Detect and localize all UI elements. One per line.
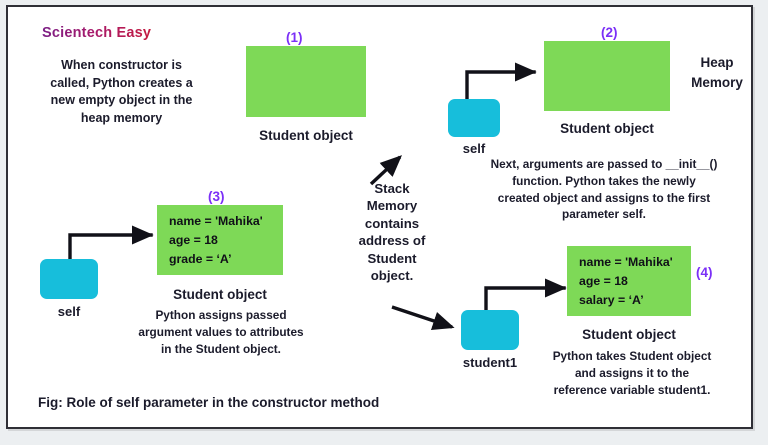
step-number-4: (4) [696,265,713,280]
student1-label: student1 [454,355,526,371]
student-object-label-3: Student object [148,287,292,303]
step2-note: Next, arguments are passed to __init__()… [454,156,754,223]
diagram-screenshot: Scientech Easy (1) Student object When c… [0,0,768,445]
student-object-label-4: Student object [559,327,699,343]
student-object-box-3: name = 'Mahika' age = 18 grade = ‘A’ [157,205,283,275]
arrow-self-to-student-object-3 [70,235,151,260]
self-label-bottom: self [36,304,102,320]
heap-memory-label: Heap Memory [680,53,754,92]
diagram-canvas: Scientech Easy (1) Student object When c… [6,5,753,429]
student-object-label-1: Student object [246,128,366,144]
brand-title: Scientech Easy [42,25,151,41]
step-number-3: (3) [208,189,225,204]
step-number-2: (2) [601,25,618,40]
student1-reference-box [461,310,519,350]
stack-memory-note: Stack Memory contains address of Student… [342,180,442,285]
student-object-box-3-contents: name = 'Mahika' age = 18 grade = ‘A’ [169,212,263,269]
student-object-box-4: name = 'Mahika' age = 18 salary = ‘A’ [567,246,691,316]
self-reference-box-top [448,99,500,137]
student-object-label-2: Student object [544,121,670,137]
step1-note: When constructor is called, Python creat… [24,57,219,127]
figure-caption: Fig: Role of self parameter in the const… [38,395,508,411]
student-object-box-1 [246,46,366,117]
step3-note: Python assigns passed argument values to… [104,307,338,357]
student-object-box-2 [544,41,670,111]
student-object-box-4-contents: name = 'Mahika' age = 18 salary = ‘A’ [579,253,673,310]
arrow-student1-to-student-object-4 [486,288,564,311]
arrow-stack-to-student1 [392,307,452,327]
step-number-1: (1) [286,30,303,45]
step4-note: Python takes Student object and assigns … [524,348,740,398]
self-reference-box-bottom [40,259,98,299]
self-label-top: self [442,141,506,157]
